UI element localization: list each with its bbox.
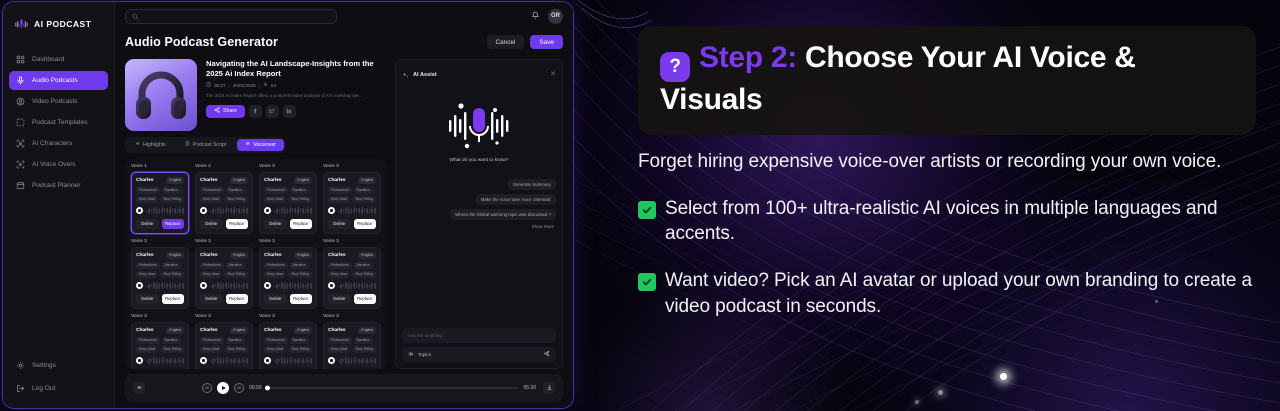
replace-voice-button[interactable]: Replace — [354, 219, 377, 229]
voice-slot: Voice 3CharlesEnglishProfessionalNarrati… — [323, 314, 381, 369]
delete-voice-button[interactable]: Delete — [328, 294, 351, 304]
voice-card[interactable]: CharlesEnglishProfessionalNarrationDeep … — [323, 322, 381, 369]
sidebar-item-label: AI Voice Overs — [32, 161, 76, 168]
voice-language-badge: English — [358, 177, 376, 184]
voice-card-actions: DeleteReplace — [200, 219, 248, 229]
voice-card-header: CharlesEnglish — [264, 327, 312, 334]
voice-preview — [264, 207, 312, 215]
voice-play-button[interactable] — [328, 357, 335, 364]
sidebar-item-audio-podcasts[interactable]: Audio Podcasts — [9, 71, 108, 90]
voice-tag: Narration — [226, 337, 245, 344]
voice-tag: Deep Voice — [136, 271, 158, 278]
promo-bullet: Want video? Pick an AI avatar or upload … — [638, 268, 1256, 319]
waveform — [338, 207, 376, 215]
voice-panel: Voice 1CharlesEnglishProfessionalNarrati… — [125, 159, 387, 369]
voice-name: Charles — [328, 253, 346, 258]
voice-slot-label: Voice 3 — [259, 239, 317, 244]
sidebar-item-label: Video Podcasts — [32, 98, 78, 105]
voice-tag: Professional — [264, 337, 288, 344]
voice-slot-label: Voice 3 — [259, 164, 317, 169]
voice-slot: Voice 3CharlesEnglishProfessionalNarrati… — [195, 314, 253, 369]
voice-slot-label: Voice 3 — [131, 239, 189, 244]
linkedin-icon[interactable] — [283, 105, 296, 118]
waveform — [146, 282, 184, 290]
replace-voice-button[interactable]: Replace — [290, 294, 313, 304]
voice-tags: ProfessionalNarrationDeep VoiceStory Tel… — [200, 337, 248, 353]
voice-preview — [328, 282, 376, 290]
voice-card[interactable]: CharlesEnglishProfessionalNarrationDeep … — [195, 322, 253, 369]
tab-label: Voiceover — [253, 142, 276, 148]
voice-play-button[interactable] — [264, 357, 271, 364]
episodes-icon — [263, 82, 268, 88]
voice-language-badge: English — [358, 252, 376, 259]
voice-card-actions: DeleteReplace — [264, 219, 312, 229]
topics-label: Topics — [418, 352, 431, 357]
twitter-icon[interactable] — [266, 105, 279, 118]
replace-voice-button[interactable]: Replace — [162, 219, 185, 229]
voice-tag: Professional — [200, 262, 224, 269]
promo-bullet-text: Want video? Pick an AI avatar or upload … — [665, 268, 1256, 319]
voice-card-header: CharlesEnglish — [136, 177, 184, 184]
voice-card-header: CharlesEnglish — [200, 177, 248, 184]
voice-language-badge: English — [294, 252, 312, 259]
ai-assist-suggestions: Generate Summary Make the voice tone mor… — [402, 179, 556, 229]
voice-card-actions: DeleteReplace — [328, 294, 376, 304]
step-heading: ?Step 2: Choose Your AI Voice & Visuals — [660, 40, 1234, 119]
voice-preview — [136, 282, 184, 290]
sidebar-item-label: Podcast Planner — [32, 182, 80, 189]
voice-tag: Story Telling — [224, 271, 247, 278]
main-area: OR Audio Podcast Generator Cancel Save — [115, 2, 573, 408]
voice-slot: Voice 3CharlesEnglishProfessionalNarrati… — [259, 164, 317, 234]
voice-language-badge: English — [294, 327, 312, 334]
ai-assist-hero: What do you want to know? — [402, 84, 556, 169]
page-header: Audio Podcast Generator Cancel Save — [115, 30, 573, 54]
voice-tag: Narration — [162, 262, 181, 269]
tab-label: Highlights — [143, 142, 166, 148]
voice-card[interactable]: CharlesEnglishProfessionalNarrationDeep … — [323, 247, 381, 309]
sidebar: AI PODCAST Dashboard — [3, 2, 115, 408]
voice-tag: Professional — [264, 187, 288, 194]
page-title: Audio Podcast Generator — [125, 35, 278, 49]
voice-preview — [200, 282, 248, 290]
sidebar-item-ai-voice-overs[interactable]: AI Voice Overs — [9, 155, 108, 174]
sidebar-item-podcast-templates[interactable]: Podcast Templates — [9, 113, 108, 132]
voice-name: Charles — [264, 178, 282, 183]
content-area: Navigating the AI Landscape-Insights fro… — [115, 55, 573, 369]
player-controls: 10 10 00:00 05:30 — [202, 382, 536, 394]
waveform — [274, 282, 312, 290]
podcast-meta: 05:37 | 20/01/2025 | 04 — [206, 82, 387, 88]
voice-card-header: CharlesEnglish — [200, 252, 248, 259]
voice-card-header: CharlesEnglish — [136, 252, 184, 259]
replace-voice-button[interactable]: Replace — [290, 219, 313, 229]
voice-tag: Narration — [290, 337, 309, 344]
progress-slider[interactable] — [267, 387, 519, 389]
voice-grid: Voice 1CharlesEnglishProfessionalNarrati… — [131, 164, 381, 369]
voice-tag: Deep Voice — [328, 346, 350, 353]
voice-tag: Professional — [200, 187, 224, 194]
voice-tag: Deep Voice — [200, 271, 222, 278]
voice-tag: Deep Voice — [200, 196, 222, 203]
voice-card[interactable]: CharlesEnglishProfessionalNarrationDeep … — [131, 322, 189, 369]
delete-voice-button[interactable]: Delete — [136, 294, 159, 304]
voice-tag: Deep Voice — [328, 271, 350, 278]
sidebar-bottom-nav: Settings Log Out — [3, 356, 114, 400]
waveform — [210, 357, 248, 365]
voice-tag: Story Telling — [352, 346, 375, 353]
voice-language-badge: English — [358, 327, 376, 334]
voice-language-badge: English — [294, 177, 312, 184]
voice-tag: Professional — [136, 187, 160, 194]
topbar-right: OR — [531, 7, 563, 25]
search-icon — [132, 7, 139, 25]
voice-tag: Deep Voice — [264, 346, 286, 353]
microphone-icon — [16, 76, 25, 85]
voice-tags: ProfessionalNarrationDeep VoiceStory Tel… — [136, 262, 184, 278]
voice-tag: Story Telling — [160, 271, 183, 278]
voice-slot: Voice 3CharlesEnglishProfessionalNarrati… — [131, 314, 189, 369]
voice-card[interactable]: CharlesEnglishProfessionalNarrationDeep … — [259, 247, 317, 309]
voice-play-button[interactable] — [200, 207, 207, 214]
avatar[interactable]: OR — [548, 9, 563, 24]
promo-body: Forget hiring expensive voice-over artis… — [638, 149, 1256, 319]
promo-bullet: Select from 100+ ultra-realistic AI voic… — [638, 196, 1256, 247]
delete-voice-button[interactable]: Delete — [200, 294, 223, 304]
podcast-date: 20/01/2025 — [233, 83, 256, 88]
forward-label: 10 — [237, 386, 241, 390]
voice-tag: Story Telling — [288, 271, 311, 278]
voice-tag: Deep Voice — [328, 196, 350, 203]
tab-podcast-script[interactable]: Podcast Script — [177, 139, 234, 151]
voice-play-button[interactable] — [136, 357, 143, 364]
voice-tag: Narration — [162, 337, 181, 344]
sidebar-item-podcast-planner[interactable]: Podcast Planner — [9, 176, 108, 195]
voice-slot-label: Voice 3 — [195, 239, 253, 244]
step-card: ?Step 2: Choose Your AI Voice & Visuals — [638, 26, 1256, 135]
podcast-title: Navigating the AI Landscape-Insights fro… — [206, 59, 387, 80]
voice-tags: ProfessionalNarrationDeep VoiceStory Tel… — [136, 187, 184, 203]
voice-slot: Voice 2CharlesEnglishProfessionalNarrati… — [195, 164, 253, 234]
voice-card-actions: DeleteReplace — [136, 219, 184, 229]
voice-slot: Voice 3CharlesEnglishProfessionalNarrati… — [131, 239, 189, 309]
ai-assist-header: AI Assist ✕ — [402, 66, 556, 84]
share-button[interactable]: Share — [206, 105, 245, 118]
waveform — [338, 357, 376, 365]
voice-slot-label: Voice 1 — [131, 164, 189, 169]
voice-card[interactable]: CharlesEnglishProfessionalNarrationDeep … — [131, 247, 189, 309]
voice-slot-label: Voice 3 — [131, 314, 189, 319]
step-prefix: Step 2: — [699, 41, 797, 74]
question-badge-icon: ? — [660, 52, 690, 82]
voice-tag: Narration — [290, 262, 309, 269]
sidebar-item-label: Audio Podcasts — [32, 77, 78, 84]
voice-preview — [264, 357, 312, 365]
send-icon[interactable] — [543, 350, 550, 358]
voice-slot: Voice 3CharlesEnglishProfessionalNarrati… — [323, 164, 381, 234]
voice-tags: ProfessionalNarrationDeep VoiceStory Tel… — [328, 187, 376, 203]
voice-name: Charles — [200, 328, 218, 333]
voiceover-icon — [16, 160, 25, 169]
forward-10-button[interactable]: 10 — [234, 383, 244, 393]
waveform — [274, 207, 312, 215]
delete-voice-button[interactable]: Delete — [264, 219, 287, 229]
save-button[interactable]: Save — [530, 35, 563, 49]
facebook-icon[interactable] — [249, 105, 262, 118]
voice-card[interactable]: CharlesEnglishProfessionalNarrationDeep … — [195, 172, 253, 234]
bell-icon[interactable] — [531, 7, 540, 25]
voiceover-tab-icon — [245, 141, 250, 148]
logout-icon — [16, 384, 25, 393]
search-input[interactable] — [143, 13, 330, 19]
voice-name: Charles — [328, 328, 346, 333]
voice-card[interactable]: CharlesEnglishProfessionalNarrationDeep … — [195, 247, 253, 309]
voice-language-badge: English — [230, 327, 248, 334]
check-icon — [638, 201, 656, 219]
voice-slot-label: Voice 3 — [195, 314, 253, 319]
promo-panel: ?Step 2: Choose Your AI Voice & Visuals … — [614, 0, 1280, 411]
voice-name: Charles — [328, 178, 346, 183]
voice-slot-label: Voice 3 — [323, 314, 381, 319]
voice-tag: Professional — [136, 337, 160, 344]
voice-tag: Deep Voice — [264, 271, 286, 278]
voice-tags: ProfessionalNarrationDeep VoiceStory Tel… — [264, 262, 312, 278]
audio-player: 10 10 00:00 05:30 — [125, 374, 563, 402]
voice-slot: Voice 3CharlesEnglishProfessionalNarrati… — [195, 239, 253, 309]
voice-play-button[interactable] — [328, 207, 335, 214]
sidebar-item-dashboard[interactable]: Dashboard — [9, 50, 108, 69]
voice-play-button[interactable] — [328, 282, 335, 289]
waveform — [210, 207, 248, 215]
voice-slot: Voice 3CharlesEnglishProfessionalNarrati… — [259, 239, 317, 309]
tab-label: Podcast Script — [193, 142, 226, 148]
voice-language-badge: English — [166, 327, 184, 334]
voice-card-actions: DeleteReplace — [264, 294, 312, 304]
voice-slot-label: Voice 3 — [323, 164, 381, 169]
share-label: Share — [223, 108, 237, 114]
waveform — [146, 357, 184, 365]
voice-slot-label: Voice 2 — [195, 164, 253, 169]
close-icon[interactable]: ✕ — [550, 71, 556, 78]
brand-name: AI PODCAST — [34, 19, 91, 29]
voice-card-header: CharlesEnglish — [328, 327, 376, 334]
voice-language-badge: English — [166, 252, 184, 259]
replace-voice-button[interactable]: Replace — [226, 294, 249, 304]
script-icon — [185, 141, 190, 148]
search-box[interactable] — [125, 9, 337, 24]
voice-tag: Narration — [290, 187, 309, 194]
voice-card-actions: DeleteReplace — [328, 219, 376, 229]
voice-card[interactable]: CharlesEnglishProfessionalNarrationDeep … — [323, 172, 381, 234]
grid-icon — [16, 55, 25, 64]
voice-tag: Story Telling — [352, 196, 375, 203]
calendar-icon — [16, 181, 25, 190]
brand: AI PODCAST — [3, 12, 114, 34]
sparkle-icon — [402, 66, 409, 84]
sidebar-item-label: Podcast Templates — [32, 119, 88, 126]
rewind-10-button[interactable]: 10 — [202, 383, 212, 393]
sidebar-item-video-podcasts[interactable]: Video Podcasts — [9, 92, 108, 111]
voice-preview — [136, 357, 184, 365]
replace-voice-button[interactable]: Replace — [162, 294, 185, 304]
podcast-description: The 2024 AI Index Report offers a compre… — [206, 93, 387, 99]
play-button[interactable] — [217, 382, 229, 394]
total-time: 05:30 — [523, 385, 536, 391]
download-button[interactable] — [543, 382, 555, 394]
video-icon — [16, 97, 25, 106]
highlights-icon — [135, 141, 140, 148]
ai-assist-footer: Ask me anything... Topics — [402, 328, 556, 362]
delete-voice-button[interactable]: Delete — [328, 219, 351, 229]
voice-preview — [264, 282, 312, 290]
replace-voice-button[interactable]: Replace — [354, 294, 377, 304]
voice-play-button[interactable] — [264, 282, 271, 289]
sidebar-item-ai-characters[interactable]: AI Characters — [9, 134, 108, 153]
voice-tag: Narration — [226, 187, 245, 194]
voice-name: Charles — [200, 178, 218, 183]
sidebar-item-label: AI Characters — [32, 140, 72, 147]
voice-tag: Story Telling — [160, 196, 183, 203]
podcast-actions: Share — [206, 105, 387, 118]
voice-tag: Deep Voice — [264, 196, 286, 203]
sidebar-item-logout[interactable]: Log Out — [9, 379, 108, 398]
voice-tag: Narration — [162, 187, 181, 194]
voice-tag: Narration — [354, 337, 373, 344]
voice-card-header: CharlesEnglish — [264, 252, 312, 259]
current-time: 00:00 — [249, 385, 262, 391]
voice-tag: Deep Voice — [136, 346, 158, 353]
voice-name: Charles — [264, 328, 282, 333]
suggestion-chip[interactable]: Make the voice tone more cinematic — [476, 194, 556, 205]
voice-tag: Professional — [328, 187, 352, 194]
voice-name: Charles — [136, 178, 154, 183]
voice-slot: Voice 1CharlesEnglishProfessionalNarrati… — [131, 164, 189, 234]
voice-name: Charles — [264, 253, 282, 258]
delete-voice-button[interactable]: Delete — [264, 294, 287, 304]
progress-knob[interactable] — [265, 385, 270, 390]
promo-bullet-text: Select from 100+ ultra-realistic AI voic… — [665, 196, 1256, 247]
check-icon — [638, 273, 656, 291]
replace-voice-button[interactable]: Replace — [226, 219, 249, 229]
rewind-label: 10 — [205, 386, 209, 390]
cancel-button[interactable]: Cancel — [487, 35, 525, 49]
delete-voice-button[interactable]: Delete — [200, 219, 223, 229]
sidebar-item-label: Dashboard — [32, 56, 64, 63]
content-tabs: Highlights Podcast Script — [125, 137, 286, 153]
podcast-thumbnail — [125, 59, 197, 131]
topics-bar[interactable]: Topics — [402, 347, 556, 362]
voice-tag: Professional — [264, 262, 288, 269]
waveform — [210, 282, 248, 290]
sidebar-nav: Dashboard Audio Podcasts — [3, 50, 114, 195]
sidebar-spacer — [3, 195, 114, 356]
suggestion-chip[interactable]: Where the Global warming topic was discu… — [450, 209, 556, 220]
voice-card-header: CharlesEnglish — [136, 327, 184, 334]
voice-tags: ProfessionalNarrationDeep VoiceStory Tel… — [264, 337, 312, 353]
voice-card-actions: DeleteReplace — [136, 294, 184, 304]
play-icon — [222, 386, 226, 390]
voice-preview — [328, 207, 376, 215]
ai-assist-title: AI Assist — [413, 72, 437, 78]
voice-card-header: CharlesEnglish — [264, 177, 312, 184]
tab-voiceover[interactable]: Voiceover — [237, 139, 284, 151]
waveform — [338, 282, 376, 290]
voice-tag: Professional — [328, 337, 352, 344]
voice-preview — [200, 207, 248, 215]
voice-tag: Story Telling — [288, 196, 311, 203]
delete-voice-button[interactable]: Delete — [136, 219, 159, 229]
character-icon — [16, 139, 25, 148]
left-column: Navigating the AI Landscape-Insights fro… — [125, 59, 387, 369]
promo-intro: Forget hiring expensive voice-over artis… — [638, 149, 1256, 174]
voice-tag: Story Telling — [160, 346, 183, 353]
voice-play-button[interactable] — [200, 357, 207, 364]
sidebar-item-settings[interactable]: Settings — [9, 356, 108, 375]
voice-tags: ProfessionalNarrationDeep VoiceStory Tel… — [136, 337, 184, 353]
voice-name: Charles — [200, 253, 218, 258]
voice-slot-label: Voice 3 — [259, 314, 317, 319]
voice-play-button[interactable] — [136, 207, 143, 214]
voice-slot-label: Voice 3 — [323, 239, 381, 244]
podcast-episodes: 04 — [271, 83, 276, 88]
volume-button[interactable] — [133, 382, 145, 394]
voice-tags: ProfessionalNarrationDeep VoiceStory Tel… — [264, 187, 312, 203]
voice-play-button[interactable] — [264, 207, 271, 214]
app-window-screenshot: AI PODCAST Dashboard — [2, 1, 574, 409]
voice-tag: Story Telling — [224, 196, 247, 203]
voice-tag: Professional — [200, 337, 224, 344]
ask-input[interactable]: Ask me anything... — [402, 328, 556, 343]
voice-language-badge: English — [230, 177, 248, 184]
ai-assist-panel: AI Assist ✕ — [395, 59, 563, 369]
voice-language-badge: English — [230, 252, 248, 259]
voice-tag: Narration — [354, 262, 373, 269]
voice-tag: Narration — [226, 262, 245, 269]
voice-tag: Deep Voice — [136, 196, 158, 203]
podcast-duration: 05:37 — [214, 83, 226, 88]
meta-separator: | — [259, 83, 260, 88]
voice-card[interactable]: CharlesEnglishProfessionalNarrationDeep … — [259, 322, 317, 369]
voice-play-button[interactable] — [136, 282, 143, 289]
podcast-card: Navigating the AI Landscape-Insights fro… — [125, 59, 387, 131]
voice-tag: Professional — [328, 262, 352, 269]
voice-tags: ProfessionalNarrationDeep VoiceStory Tel… — [328, 337, 376, 353]
waveform — [274, 357, 312, 365]
voice-tags: ProfessionalNarrationDeep VoiceStory Tel… — [200, 262, 248, 278]
voice-card-header: CharlesEnglish — [328, 177, 376, 184]
voice-tag: Professional — [136, 262, 160, 269]
suggestion-chip[interactable]: Generate Summary — [508, 179, 556, 190]
voice-tag: Story Telling — [352, 271, 375, 278]
voice-play-button[interactable] — [200, 282, 207, 289]
voice-slot: Voice 3CharlesEnglishProfessionalNarrati… — [259, 314, 317, 369]
microphone-illustration — [437, 98, 521, 154]
voice-preview — [328, 357, 376, 365]
voice-name: Charles — [136, 253, 154, 258]
gear-icon — [16, 361, 25, 370]
tab-highlights[interactable]: Highlights — [127, 139, 174, 151]
voice-tag: Story Telling — [224, 346, 247, 353]
voice-card[interactable]: CharlesEnglishProfessionalNarrationDeep … — [259, 172, 317, 234]
meta-separator: | — [229, 83, 230, 88]
voice-tags: ProfessionalNarrationDeep VoiceStory Tel… — [328, 262, 376, 278]
show-more-link[interactable]: Show More — [532, 224, 556, 229]
voice-card-header: CharlesEnglish — [328, 252, 376, 259]
voice-card[interactable]: CharlesEnglishProfessionalNarrationDeep … — [131, 172, 189, 234]
template-icon — [16, 118, 25, 127]
topics-icon — [408, 351, 414, 358]
clock-icon — [206, 82, 211, 88]
